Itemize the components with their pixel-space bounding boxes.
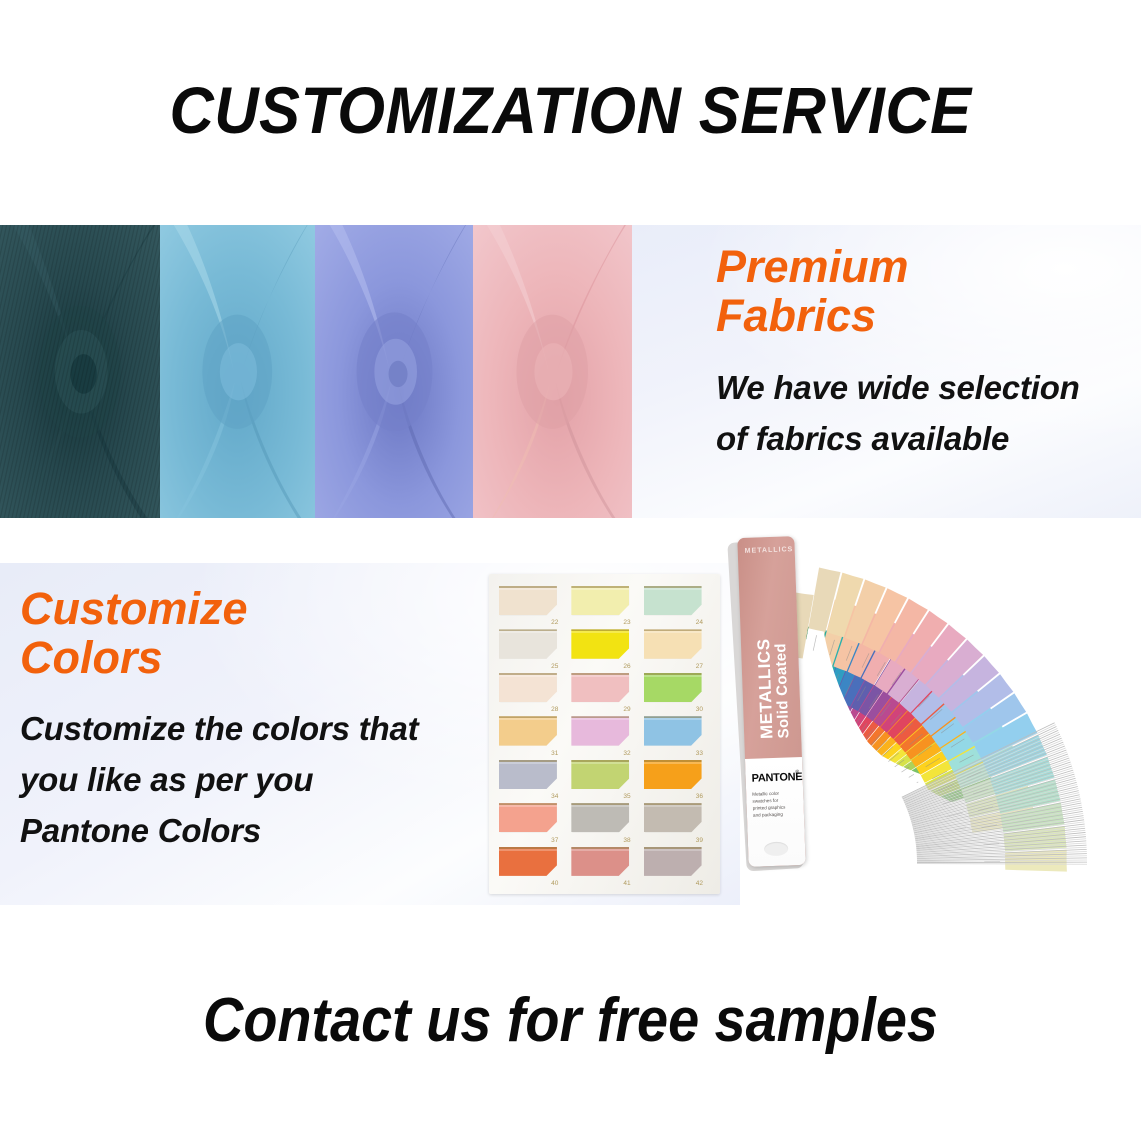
swatch-cell: 31	[499, 714, 566, 755]
fan-deck-cover-top-label: METALLICS	[745, 546, 794, 555]
swatch-cell: 28	[499, 671, 566, 712]
swatch-cell: 38	[571, 801, 638, 842]
swatch-cell: 23	[571, 584, 638, 625]
fan-deck-brand-block: PANTONE ® Metallic color swatches for pr…	[745, 757, 806, 867]
fabric-swatch-dark-teal	[0, 225, 160, 518]
fabric-swatch-light-blue	[160, 225, 315, 518]
fan-deck-thumb-notch	[764, 842, 788, 857]
color-chip	[644, 716, 702, 745]
page-title: CUSTOMIZATION SERVICE	[40, 72, 1101, 148]
swatch-number: 41	[623, 880, 630, 887]
swatch-number: 32	[623, 750, 630, 757]
premium-fabrics-body: We have wide selection of fabrics availa…	[716, 362, 1080, 464]
fabric-texture-icon	[473, 225, 632, 518]
fan-deck-subtext: Metallic color swatches for printed grap…	[752, 789, 801, 819]
color-chip	[571, 716, 629, 745]
color-chip	[644, 760, 702, 789]
swatch-number: 37	[551, 837, 558, 844]
color-chip	[571, 760, 629, 789]
fan-deck-vertical-title: METALLICS Solid Coated	[754, 608, 792, 739]
color-chip	[644, 629, 702, 658]
color-chip	[644, 803, 702, 832]
swatch-cell: 26	[571, 627, 638, 668]
color-chip	[499, 673, 557, 702]
swatch-cell: 25	[499, 627, 566, 668]
swatch-cell: 32	[571, 714, 638, 755]
fan-deck-cover: METALLICS METALLICS Solid Coated PANTONE…	[737, 536, 805, 867]
fabric-image-strip	[0, 225, 632, 518]
customize-colors-headline: Customize Colors	[20, 585, 248, 682]
color-chip	[571, 629, 629, 658]
swatch-number: 34	[551, 793, 558, 800]
swatch-number: 35	[623, 793, 630, 800]
swatch-number: 25	[551, 663, 558, 670]
customize-colors-body: Customize the colors that you like as pe…	[20, 703, 418, 856]
swatch-number: 36	[696, 793, 703, 800]
swatch-number: 29	[623, 706, 630, 713]
footer-cta: Contact us for free samples	[57, 985, 1084, 1056]
swatch-number: 26	[623, 663, 630, 670]
swatch-cell: 30	[644, 671, 711, 712]
registered-mark-icon: ®	[795, 769, 799, 775]
swatch-number: 38	[623, 837, 630, 844]
swatch-number: 24	[696, 619, 703, 626]
swatch-number: 40	[551, 880, 558, 887]
color-chip	[571, 803, 629, 832]
pantone-metallics-fan-deck: METALLICS METALLICS Solid Coated PANTONE…	[715, 533, 1141, 905]
swatch-number: 39	[696, 837, 703, 844]
color-chip	[644, 586, 702, 615]
swatch-cell: 34	[499, 758, 566, 799]
swatch-number: 22	[551, 619, 558, 626]
swatch-cell: 36	[644, 758, 711, 799]
swatch-number: 28	[551, 706, 558, 713]
color-chip	[571, 847, 629, 876]
swatch-cell: 22	[499, 584, 566, 625]
premium-fabrics-text-panel: Premium Fabrics We have wide selection o…	[632, 225, 1141, 518]
color-chip	[499, 716, 557, 745]
pantone-color-swatch-card: 2223242526272829303132333435363738394041…	[489, 574, 720, 894]
fan-deck-title-line2: Solid Coated	[772, 608, 792, 738]
swatch-number: 33	[696, 750, 703, 757]
premium-fabrics-section: Premium Fabrics We have wide selection o…	[0, 225, 1141, 518]
swatch-cell: 42	[644, 845, 711, 886]
fabric-swatch-periwinkle	[315, 225, 473, 518]
color-chip	[499, 847, 557, 876]
color-chip	[499, 760, 557, 789]
swatch-cell: 27	[644, 627, 711, 668]
swatch-number: 30	[696, 706, 703, 713]
color-chip	[499, 629, 557, 658]
swatch-cell: 41	[571, 845, 638, 886]
swatch-cell: 37	[499, 801, 566, 842]
color-chip	[644, 847, 702, 876]
fabric-texture-icon	[0, 225, 160, 518]
color-chip	[571, 586, 629, 615]
swatch-cell: 39	[644, 801, 711, 842]
customize-colors-section: Customize Colors Customize the colors th…	[0, 563, 1141, 905]
swatch-cell: 33	[644, 714, 711, 755]
color-chip	[499, 586, 557, 615]
swatch-cell: 40	[499, 845, 566, 886]
swatch-cell: 24	[644, 584, 711, 625]
color-chip	[499, 803, 557, 832]
swatch-number: 42	[696, 880, 703, 887]
premium-fabrics-headline: Premium Fabrics	[716, 243, 909, 340]
swatch-cell: 29	[571, 671, 638, 712]
swatch-cell: 35	[571, 758, 638, 799]
swatch-number: 23	[623, 619, 630, 626]
color-chip	[644, 673, 702, 702]
fabric-swatch-blush-pink	[473, 225, 632, 518]
swatch-number: 31	[551, 750, 558, 757]
swatch-number: 27	[696, 663, 703, 670]
fabric-texture-icon	[160, 225, 315, 518]
fabric-texture-icon	[315, 225, 473, 518]
color-chip	[571, 673, 629, 702]
